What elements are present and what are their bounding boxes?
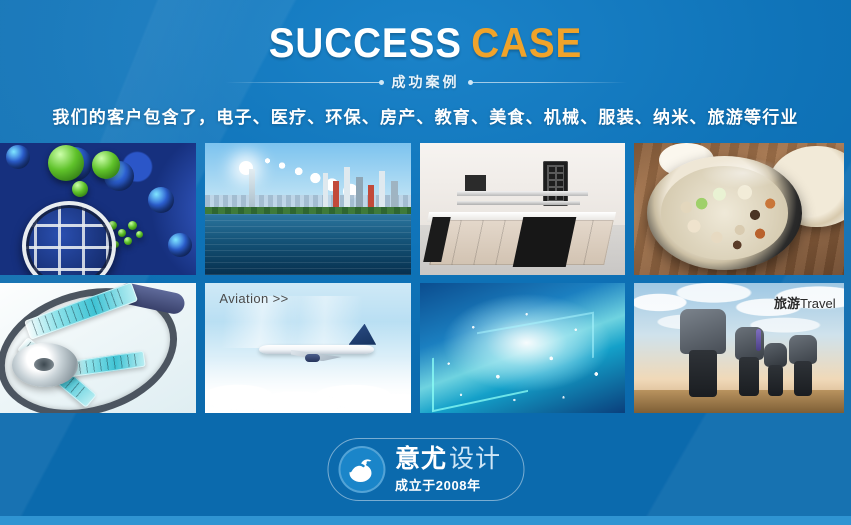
backpack bbox=[764, 343, 787, 367]
bench-dark-panel bbox=[513, 217, 577, 267]
tagline: 我们的客户包含了，电子、医疗、环保、房产、教育、美食、机械、服装、纳米、旅游等行… bbox=[0, 103, 851, 128]
water bbox=[205, 214, 411, 275]
cloud-bank bbox=[205, 356, 411, 413]
shelf-box bbox=[465, 175, 486, 191]
hiker-1 bbox=[680, 309, 726, 395]
case-thumb-travel[interactable]: 旅游Travel bbox=[634, 283, 844, 413]
success-case-banner: SUCCESSCASE 成功案例 我们的客户包含了，电子、医疗、环保、房产、教育… bbox=[0, 0, 851, 525]
hiker-body bbox=[739, 357, 758, 396]
case-thumb-environment[interactable] bbox=[205, 143, 411, 275]
medical-image bbox=[0, 283, 196, 413]
title-word-success: SUCCESS bbox=[269, 19, 462, 66]
case-thumb-medical[interactable] bbox=[0, 283, 196, 413]
case-gallery: Aviation >> 旅游 bbox=[0, 143, 851, 413]
divider-left bbox=[225, 82, 383, 83]
case-thumb-laboratory[interactable] bbox=[420, 143, 625, 275]
backpack bbox=[789, 335, 816, 364]
logo-name: 意尤设计 bbox=[395, 447, 501, 472]
hiker-3 bbox=[764, 343, 787, 395]
environment-image bbox=[205, 143, 411, 275]
logo-text: 意尤设计 成立于2008年 bbox=[395, 447, 501, 492]
gallery-row-2: Aviation >> 旅游 bbox=[0, 283, 851, 413]
company-logo[interactable]: 意尤设计 成立于2008年 bbox=[327, 438, 524, 501]
page-title: SUCCESSCASE bbox=[34, 22, 817, 64]
case-thumb-technology[interactable] bbox=[420, 283, 625, 413]
travel-caption-cn: 旅游 bbox=[774, 296, 800, 311]
hiker-body bbox=[689, 350, 718, 396]
logo-name-light: 设计 bbox=[449, 445, 501, 473]
airplane bbox=[259, 335, 374, 364]
case-thumb-food[interactable] bbox=[634, 143, 844, 275]
control-panel bbox=[543, 161, 568, 206]
travel-caption-en: Travel bbox=[800, 296, 836, 311]
aviation-caption: Aviation >> bbox=[219, 291, 288, 306]
divider-right bbox=[469, 82, 627, 83]
subtitle-chinese: 成功案例 bbox=[392, 72, 460, 92]
stethoscope-chestpiece bbox=[12, 343, 79, 387]
bench-rail-lower bbox=[457, 201, 580, 205]
hiker-body bbox=[794, 361, 812, 396]
title-word-case: CASE bbox=[471, 19, 582, 66]
case-thumb-nanotech[interactable] bbox=[0, 143, 196, 275]
fuselage bbox=[259, 345, 374, 354]
subtitle-row: 成功案例 bbox=[0, 72, 851, 92]
banner-header: SUCCESSCASE 成功案例 我们的客户包含了，电子、医疗、环保、房产、教育… bbox=[0, 22, 851, 128]
engine bbox=[305, 354, 320, 363]
travel-image: 旅游Travel bbox=[634, 283, 844, 413]
logo-since: 成立于2008年 bbox=[395, 479, 501, 492]
data-particles bbox=[420, 283, 625, 413]
aviation-image: Aviation >> bbox=[205, 283, 411, 413]
bird-brush-icon bbox=[338, 446, 385, 493]
hiker-4 bbox=[789, 335, 816, 395]
bench-rail-upper bbox=[457, 191, 588, 196]
bottom-strip bbox=[0, 516, 851, 525]
nanotech-image bbox=[0, 143, 196, 275]
laboratory-image bbox=[420, 143, 625, 275]
sleeping-mat bbox=[756, 329, 761, 351]
food-image bbox=[634, 143, 844, 275]
travel-caption: 旅游Travel bbox=[774, 293, 836, 312]
case-thumb-aviation[interactable]: Aviation >> bbox=[205, 283, 411, 413]
gallery-row-1 bbox=[0, 143, 851, 275]
steam bbox=[680, 146, 806, 191]
backpack bbox=[680, 309, 726, 354]
technology-image bbox=[420, 283, 625, 413]
hiker-body bbox=[768, 365, 782, 396]
logo-name-bold: 意尤 bbox=[395, 445, 447, 473]
